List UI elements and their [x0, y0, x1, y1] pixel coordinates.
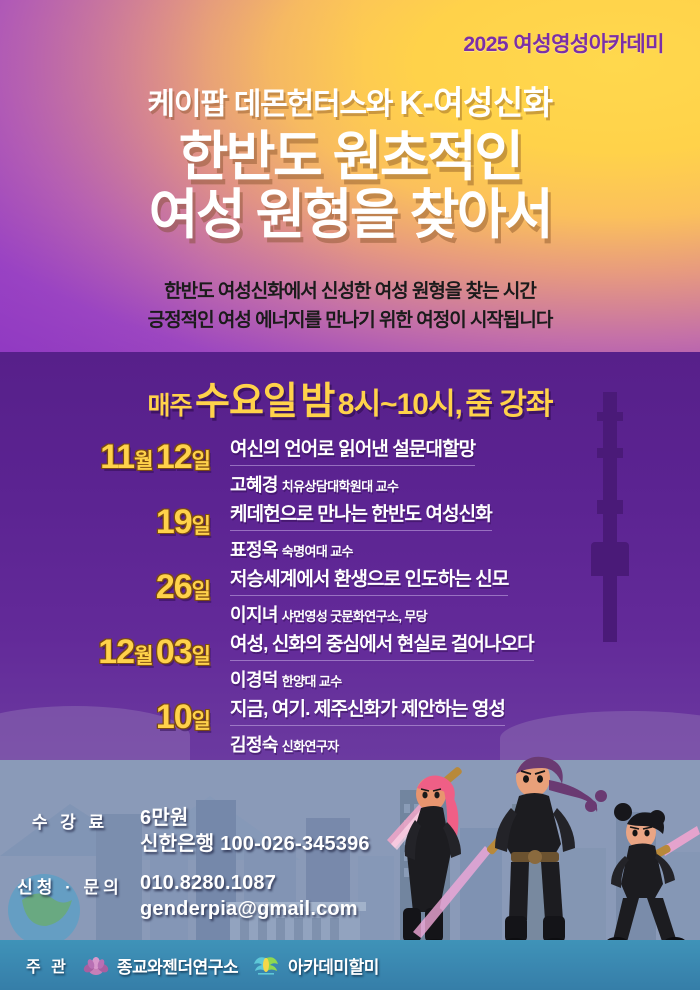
date-month-number: 11 — [100, 438, 134, 476]
schedule-row: 11월 12일 여신의 언어로 읽어낸 설문대할망 고혜경 치유상담대학원대 교… — [0, 428, 700, 493]
date-day-unit: 일 — [192, 515, 210, 538]
speaker-name: 고혜경 — [230, 475, 278, 495]
lecture-title: 여성, 신화의 중심에서 현실로 걸어나오다 — [230, 629, 534, 661]
schedule-info: 케데헌으로 만나는 한반도 여성신화 표정옥 숙명여대 교수 — [230, 493, 662, 562]
schedule-list: 11월 12일 여신의 언어로 읽어낸 설문대할망 고혜경 치유상담대학원대 교… — [0, 428, 700, 753]
lead-line-2: 긍정적인 여성 에너지를 만나기 위한 여정이 시작됩니다 — [0, 307, 700, 336]
schedule-row: 10일 지금, 여기. 제주신화가 제안하는 영성 김정숙 신화연구자 — [0, 688, 700, 753]
kicker-line: 케이팝 데몬헌터스와 K-여성신화 — [0, 76, 700, 124]
poster-root: 2025 여성영성아카데미 케이팝 데몬헌터스와 K-여성신화 한반도 원초적인… — [0, 0, 700, 990]
date-month-unit: 월 — [134, 645, 152, 668]
footer-org-2[interactable]: 아카데미할미 — [252, 953, 379, 978]
schedule-date: 10일 — [40, 688, 230, 734]
kicker-left: 케이팝 데몬헌터스와 — [147, 88, 392, 121]
fee-values: 6만원 신한은행 100-026-345396 — [140, 806, 440, 857]
schedule-date: 19일 — [40, 493, 230, 539]
lotus-icon — [83, 955, 109, 975]
schedule-info: 여신의 언어로 읽어낸 설문대할망 고혜경 치유상담대학원대 교수 — [230, 428, 662, 497]
speaker-affiliation: 치유상담대학원대 교수 — [282, 479, 399, 494]
character-black-hair — [605, 803, 700, 951]
schedule-info: 지금, 여기. 제주신화가 제안하는 영성 김정숙 신화연구자 — [230, 688, 662, 757]
lead-paragraph: 한반도 여성신화에서 신성한 여성 원형을 찾는 시간 긍정적인 여성 에너지를… — [0, 278, 700, 336]
date-day-unit: 일 — [192, 710, 210, 733]
speaker-affiliation: 샤먼영성 굿문화연구소, 무당 — [282, 609, 427, 624]
schedule-time: 8시~10시, — [338, 388, 462, 421]
schedule-night: 밤 — [300, 381, 334, 423]
fee-label: 수 강 료 — [0, 806, 140, 833]
schedule-date: 11월 12일 — [40, 428, 230, 474]
schedule-date: 26일 — [40, 558, 230, 604]
footer-bar: 주 관 종교와젠더연구소 — [0, 940, 700, 990]
lecture-title: 케데헌으로 만나는 한반도 여성신화 — [230, 499, 492, 531]
speaker-name: 이경덕 — [230, 670, 278, 690]
date-day-number: 10 — [156, 698, 192, 736]
schedule-row: 26일 저승세계에서 환생으로 인도하는 신모 이지녀 샤먼영성 굿문화연구소,… — [0, 558, 700, 623]
schedule-row: 12월 03일 여성, 신화의 중심에서 현실로 걸어나오다 이경덕 한양대 교… — [0, 623, 700, 688]
schedule-every: 매주 — [148, 392, 192, 420]
schedule-info: 저승세계에서 환생으로 인도하는 신모 이지녀 샤먼영성 굿문화연구소, 무당 — [230, 558, 662, 627]
inquiry-row: 신청 · 문의 010.8280.1087 genderpia@gmail.co… — [0, 871, 440, 922]
date-day-number: 26 — [156, 568, 192, 606]
schedule-day: 수요일 — [195, 381, 297, 423]
date-day-unit: 일 — [192, 645, 210, 668]
inquiry-values: 010.8280.1087 genderpia@gmail.com — [140, 871, 440, 922]
date-day-unit: 일 — [192, 450, 210, 473]
inquiry-label: 신청 · 문의 — [0, 871, 140, 898]
lead-line-1: 한반도 여성신화에서 신성한 여성 원형을 찾는 시간 — [0, 278, 700, 307]
bank-account: 신한은행 100-026-345396 — [140, 832, 440, 858]
lecture-title: 저승세계에서 환생으로 인도하는 신모 — [230, 564, 508, 596]
footer-org-1[interactable]: 종교와젠더연구소 — [83, 953, 238, 978]
speaker-name: 표정옥 — [230, 540, 278, 560]
schedule-date: 12월 03일 — [40, 623, 230, 669]
kicker-right: K-여성신화 — [399, 84, 552, 121]
host-label: 주 관 — [26, 953, 69, 977]
footer-org-1-label: 종교와젠더연구소 — [117, 953, 238, 978]
date-day-number: 19 — [156, 503, 192, 541]
date-day-number: 12 — [156, 438, 192, 476]
date-day-number: 03 — [156, 633, 192, 671]
speaker-name: 이지녀 — [230, 605, 278, 625]
wings-icon — [252, 954, 280, 976]
page-title: 한반도 원초적인 여성 원형을 찾아서 — [0, 128, 700, 245]
phone-number[interactable]: 010.8280.1087 — [140, 871, 440, 897]
fee-row: 수 강 료 6만원 신한은행 100-026-345396 — [0, 806, 440, 857]
footer-org-2-label: 아카데미할미 — [288, 953, 379, 978]
contact-block: 수 강 료 6만원 신한은행 100-026-345396 신청 · 문의 01… — [0, 806, 440, 936]
date-month-number: 12 — [98, 633, 134, 671]
schedule-platform: 줌 강좌 — [465, 388, 552, 421]
speaker-affiliation: 신화연구자 — [282, 739, 339, 754]
schedule-row: 19일 케데헌으로 만나는 한반도 여성신화 표정옥 숙명여대 교수 — [0, 493, 700, 558]
schedule-time-header: 매주 수요일 밤 8시~10시, 줌 강좌 — [0, 370, 700, 425]
fee-amount: 6만원 — [140, 806, 440, 832]
lecture-title: 여신의 언어로 읽어낸 설문대할망 — [230, 434, 475, 466]
speaker-name: 김정숙 — [230, 735, 278, 755]
speaker-affiliation: 한양대 교수 — [282, 674, 342, 689]
academy-label: 2025 여성영성아카데미 — [463, 28, 664, 58]
title-line-1: 한반도 원초적인 — [0, 128, 700, 186]
schedule-section: 매주 수요일 밤 8시~10시, 줌 강좌 11월 12일 여신의 언어로 읽어… — [0, 352, 700, 760]
date-month-unit: 월 — [134, 450, 152, 473]
speaker-affiliation: 숙명여대 교수 — [282, 544, 353, 559]
lecture-title: 지금, 여기. 제주신화가 제안하는 영성 — [230, 694, 505, 726]
date-day-unit: 일 — [192, 580, 210, 603]
email-address[interactable]: genderpia@gmail.com — [140, 897, 440, 923]
title-line-2: 여성 원형을 찾아서 — [0, 186, 700, 244]
schedule-info: 여성, 신화의 중심에서 현실로 걸어나오다 이경덕 한양대 교수 — [230, 623, 662, 692]
